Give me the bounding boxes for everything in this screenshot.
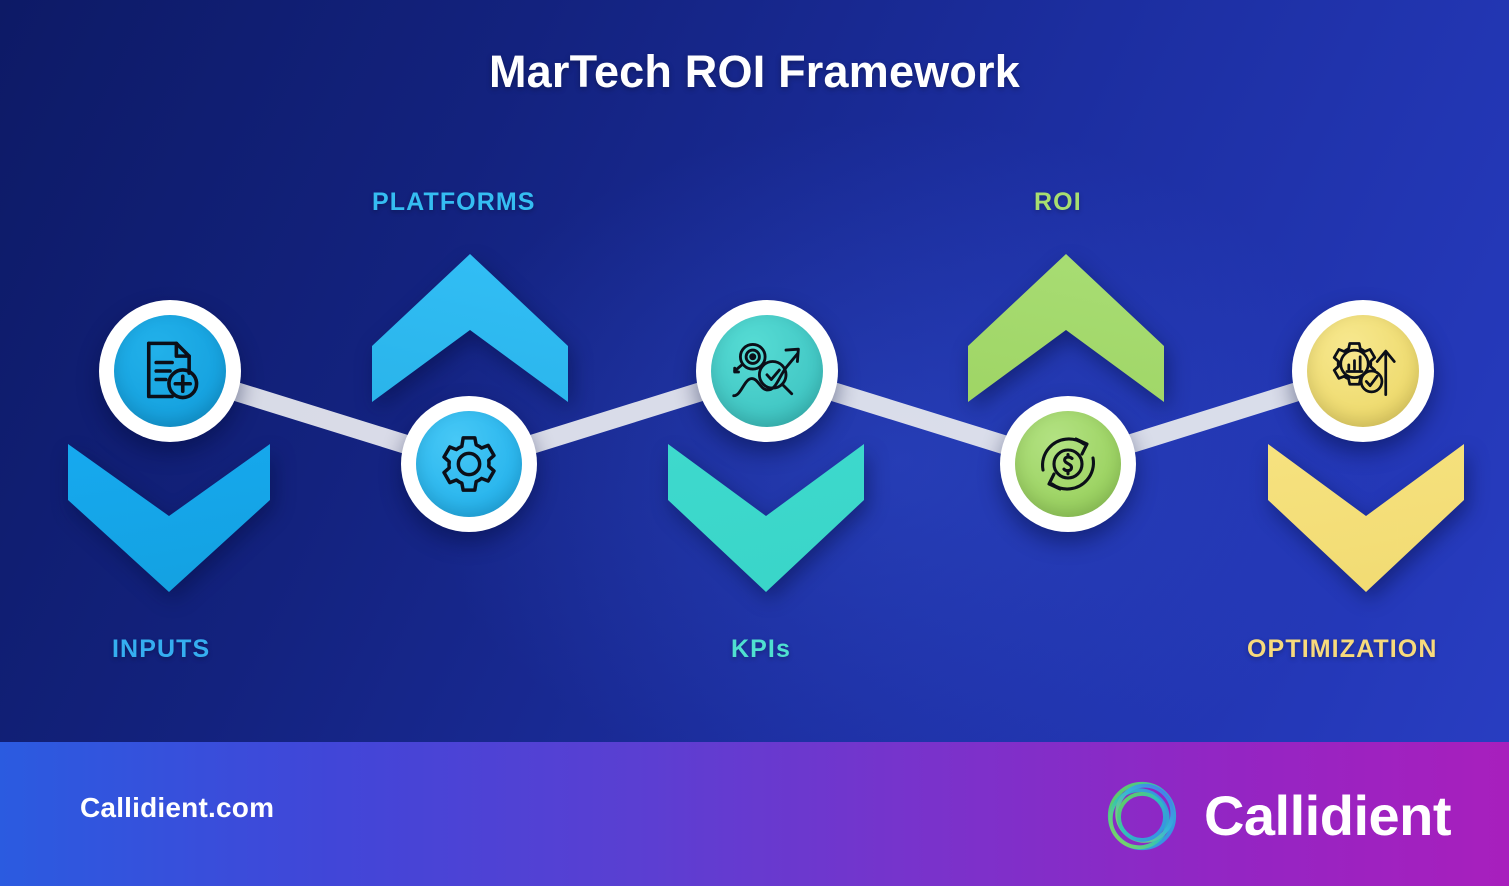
node-optimization[interactable] (1292, 300, 1434, 442)
infographic-canvas: MarTech ROI Framework (0, 0, 1509, 886)
chevron-up-roi (968, 254, 1164, 402)
brand-wordmark: Callidient (1204, 788, 1451, 844)
chevron-up-platforms (372, 254, 568, 402)
chevron-down-optimization (1268, 444, 1464, 592)
gear-chart-uparrow-icon (1307, 315, 1419, 427)
node-kpis[interactable] (696, 300, 838, 442)
footer-bar: Callidient.com (0, 742, 1509, 886)
label-inputs: INPUTS (112, 635, 210, 664)
label-roi: ROI (1034, 188, 1082, 217)
node-inputs[interactable] (99, 300, 241, 442)
flow-diagram: PLATFORMS ROI INPUTS KPIs OPTIMIZATION (0, 0, 1509, 742)
label-platforms: PLATFORMS (372, 188, 536, 217)
node-platforms[interactable] (401, 396, 537, 532)
brand-lockup[interactable]: Callidient (1096, 770, 1451, 862)
gear-icon (416, 411, 522, 517)
label-optimization: OPTIMIZATION (1247, 635, 1438, 664)
node-roi[interactable] (1000, 396, 1136, 532)
money-cycle-icon (1015, 411, 1121, 517)
footer-website-url[interactable]: Callidient.com (80, 792, 274, 824)
document-add-icon (114, 315, 226, 427)
kpi-target-growth-icon (711, 315, 823, 427)
chevron-down-kpis (668, 444, 864, 592)
label-kpis: KPIs (731, 635, 791, 664)
concentric-rings-logo-icon (1096, 770, 1188, 862)
chevron-down-inputs (68, 444, 270, 592)
